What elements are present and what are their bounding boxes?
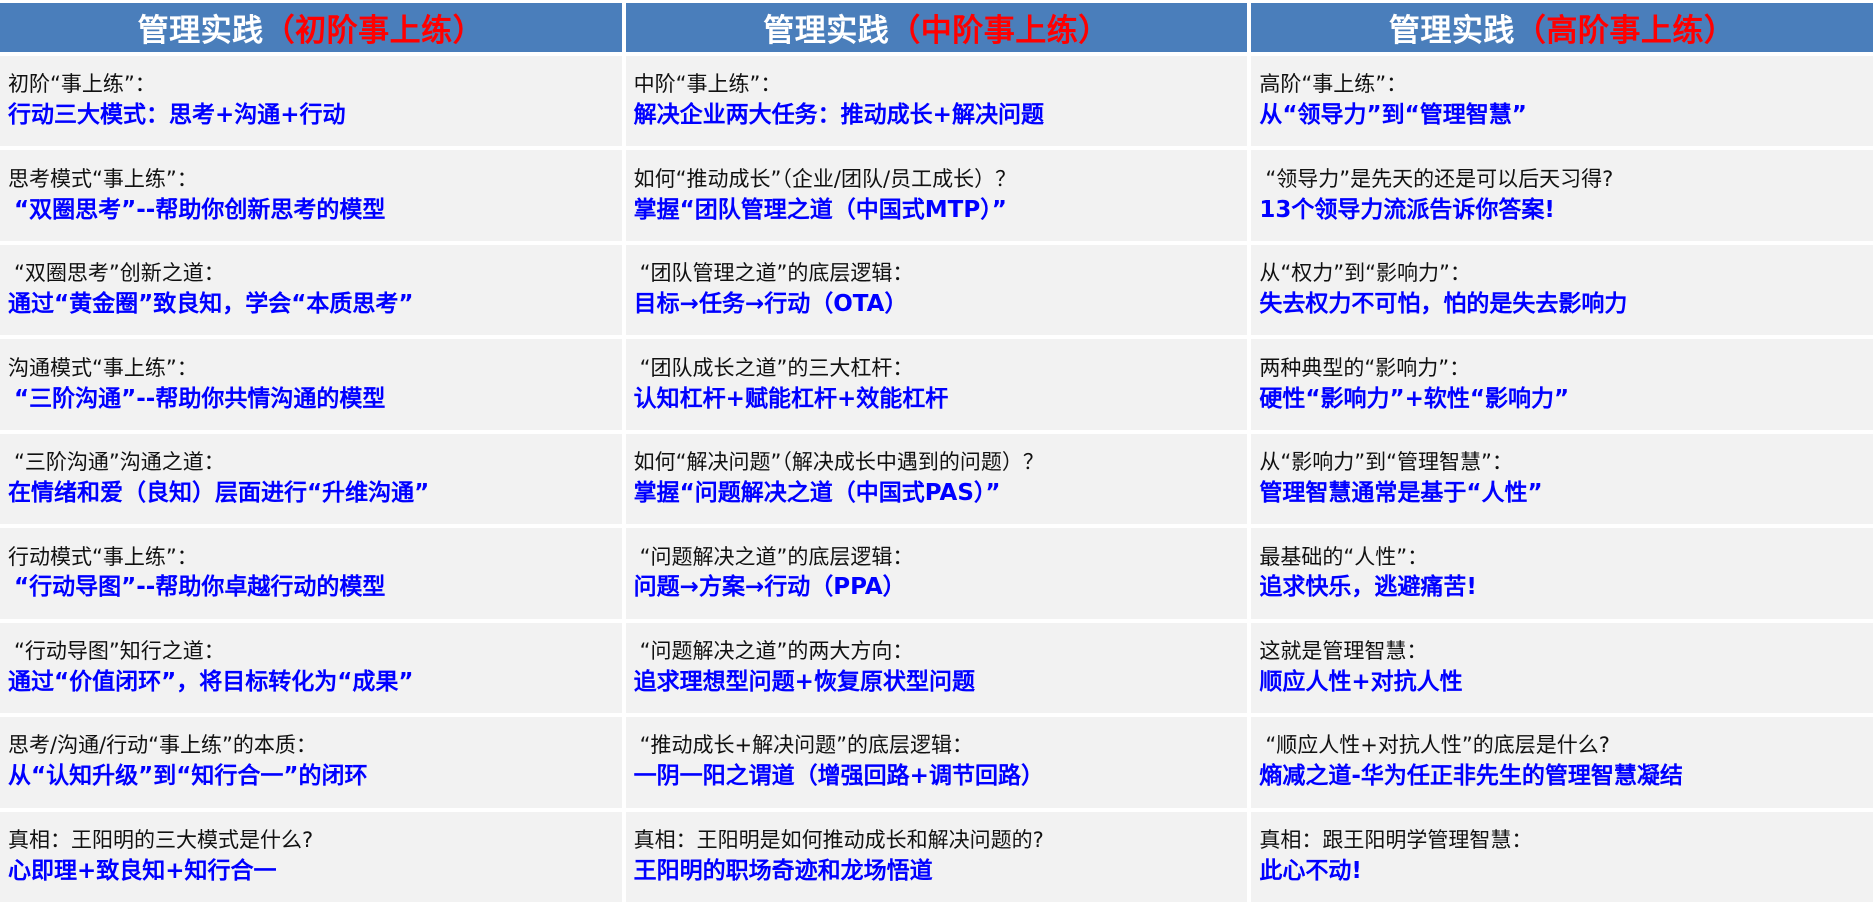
table-row: “问题解决之道”的底层逻辑： 问题→方案→行动（PPA） xyxy=(626,528,1248,618)
table-row: 从“影响力”到“管理智慧”： 管理智慧通常是基于“人性” xyxy=(1251,434,1873,524)
table-row: “行动导图”知行之道： 通过“价值闭环”，将目标转化为“成果” xyxy=(0,623,622,713)
row-answer: 顺应人性+对抗人性 xyxy=(1259,668,1869,698)
row-question: 思考/沟通/行动“事上练”的本质： xyxy=(8,732,618,759)
row-question: “三阶沟通”沟通之道： xyxy=(8,449,618,476)
column-header-title: 管理实践 xyxy=(138,5,264,50)
table-row: “双圈思考”创新之道： 通过“黄金圈”致良知，学会“本质思考” xyxy=(0,245,622,335)
row-question: 如何“解决问题”（解决成长中遇到的问题）？ xyxy=(634,449,1244,476)
row-question: 真相：跟王阳明学管理智慧： xyxy=(1259,827,1869,854)
table-row: 真相：跟王阳明学管理智慧： 此心不动! xyxy=(1251,812,1873,902)
table-row: 思考/沟通/行动“事上练”的本质： 从“认知升级”到“知行合一”的闭环 xyxy=(0,717,622,807)
table-row: 这就是管理智慧： 顺应人性+对抗人性 xyxy=(1251,623,1873,713)
row-question: “双圈思考”创新之道： xyxy=(8,260,618,287)
row-question: 沟通模式“事上练”： xyxy=(8,355,618,382)
row-answer: 熵减之道-华为任正非先生的管理智慧凝结 xyxy=(1259,762,1869,792)
row-answer: 解决企业两大任务：推动成长+解决问题 xyxy=(634,101,1244,131)
row-answer: 掌握“团队管理之道（中国式MTP）” xyxy=(634,196,1244,226)
column-header-subtitle: （初阶事上练） xyxy=(264,5,485,50)
row-question: 行动模式“事上练”： xyxy=(8,544,618,571)
row-question: 最基础的“人性”： xyxy=(1259,544,1869,571)
table-row: “推动成长+解决问题”的底层逻辑： 一阴一阳之谓道（增强回路+调节回路） xyxy=(626,717,1248,807)
table-row: “三阶沟通”沟通之道： 在情绪和爱（良知）层面进行“升维沟通” xyxy=(0,434,622,524)
table-row: 真相：王阳明是如何推动成长和解决问题的? 王阳明的职场奇迹和龙场悟道 xyxy=(626,812,1248,902)
row-question: “领导力”是先天的还是可以后天习得? xyxy=(1259,166,1869,193)
table-row: “团队管理之道”的底层逻辑： 目标→任务→行动（OTA） xyxy=(626,245,1248,335)
row-answer: 问题→方案→行动（PPA） xyxy=(634,573,1244,603)
row-answer: 管理智慧通常是基于“人性” xyxy=(1259,479,1869,509)
table-row: 如何“推动成长”（企业/团队/员工成长）？ 掌握“团队管理之道（中国式MTP）” xyxy=(626,150,1248,240)
row-question: 中阶“事上练”： xyxy=(634,71,1244,98)
row-answer: 从“认知升级”到“知行合一”的闭环 xyxy=(8,762,618,792)
table-row: “团队成长之道”的三大杠杆： 认知杠杆+赋能杠杆+效能杠杆 xyxy=(626,339,1248,429)
column-header-subtitle: （中阶事上练） xyxy=(889,5,1110,50)
row-question: 从“权力”到“影响力”： xyxy=(1259,260,1869,287)
row-answer: “行动导图”--帮助你卓越行动的模型 xyxy=(8,573,618,603)
row-answer: 通过“黄金圈”致良知，学会“本质思考” xyxy=(8,290,618,320)
row-answer: 一阴一阳之谓道（增强回路+调节回路） xyxy=(634,762,1244,792)
row-question: “问题解决之道”的两大方向： xyxy=(634,638,1244,665)
row-answer: 掌握“问题解决之道（中国式PAS）” xyxy=(634,479,1244,509)
table-row: “领导力”是先天的还是可以后天习得? 13个领导力流派告诉你答案! xyxy=(1251,150,1873,240)
row-answer: 硬性“影响力”+软性“影响力” xyxy=(1259,385,1869,415)
row-question: 两种典型的“影响力”： xyxy=(1259,355,1869,382)
row-question: 从“影响力”到“管理智慧”： xyxy=(1259,449,1869,476)
row-answer: 追求快乐，逃避痛苦! xyxy=(1259,573,1869,603)
row-question: “团队管理之道”的底层逻辑： xyxy=(634,260,1244,287)
table-row: 思考模式“事上练”： “双圈思考”--帮助你创新思考的模型 xyxy=(0,150,622,240)
row-question: 高阶“事上练”： xyxy=(1259,71,1869,98)
table-row: 高阶“事上练”： 从“领导力”到“管理智慧” xyxy=(1251,56,1873,146)
row-answer: 认知杠杆+赋能杠杆+效能杠杆 xyxy=(634,385,1244,415)
row-answer: 行动三大模式：思考+沟通+行动 xyxy=(8,101,618,131)
column-header-beginner: 管理实践 （初阶事上练） xyxy=(0,3,622,52)
table-row: 行动模式“事上练”： “行动导图”--帮助你卓越行动的模型 xyxy=(0,528,622,618)
row-answer: 王阳明的职场奇迹和龙场悟道 xyxy=(634,857,1244,887)
row-answer: “三阶沟通”--帮助你共情沟通的模型 xyxy=(8,385,618,415)
column-header-subtitle: （高阶事上练） xyxy=(1515,5,1736,50)
row-answer: 此心不动! xyxy=(1259,857,1869,887)
row-answer: 目标→任务→行动（OTA） xyxy=(634,290,1244,320)
row-answer: 通过“价值闭环”，将目标转化为“成果” xyxy=(8,668,618,698)
table-row: 中阶“事上练”： 解决企业两大任务：推动成长+解决问题 xyxy=(626,56,1248,146)
row-question: “顺应人性+对抗人性”的底层是什么? xyxy=(1259,732,1869,759)
column-intermediate: 管理实践 （中阶事上练） 中阶“事上练”： 解决企业两大任务：推动成长+解决问题… xyxy=(626,3,1248,902)
column-header-title: 管理实践 xyxy=(763,5,889,50)
row-answer: “双圈思考”--帮助你创新思考的模型 xyxy=(8,196,618,226)
row-answer: 心即理+致良知+知行合一 xyxy=(8,857,618,887)
table-row: “顺应人性+对抗人性”的底层是什么? 熵减之道-华为任正非先生的管理智慧凝结 xyxy=(1251,717,1873,807)
table-row: 如何“解决问题”（解决成长中遇到的问题）？ 掌握“问题解决之道（中国式PAS）” xyxy=(626,434,1248,524)
column-header-advanced: 管理实践 （高阶事上练） xyxy=(1251,3,1873,52)
row-question: 真相：王阳明是如何推动成长和解决问题的? xyxy=(634,827,1244,854)
table-row: 初阶“事上练”： 行动三大模式：思考+沟通+行动 xyxy=(0,56,622,146)
row-question: 真相：王阳明的三大模式是什么? xyxy=(8,827,618,854)
column-beginner: 管理实践 （初阶事上练） 初阶“事上练”： 行动三大模式：思考+沟通+行动 思考… xyxy=(0,3,622,902)
column-advanced: 管理实践 （高阶事上练） 高阶“事上练”： 从“领导力”到“管理智慧” “领导力… xyxy=(1251,3,1873,902)
row-answer: 失去权力不可怕，怕的是失去影响力 xyxy=(1259,290,1869,320)
table-row: 两种典型的“影响力”： 硬性“影响力”+软性“影响力” xyxy=(1251,339,1873,429)
row-question: 这就是管理智慧： xyxy=(1259,638,1869,665)
table-row: 从“权力”到“影响力”： 失去权力不可怕，怕的是失去影响力 xyxy=(1251,245,1873,335)
table-row: “问题解决之道”的两大方向： 追求理想型问题+恢复原状型问题 xyxy=(626,623,1248,713)
row-question: “团队成长之道”的三大杠杆： xyxy=(634,355,1244,382)
row-question: “推动成长+解决问题”的底层逻辑： xyxy=(634,732,1244,759)
table-row: 最基础的“人性”： 追求快乐，逃避痛苦! xyxy=(1251,528,1873,618)
row-answer: 从“领导力”到“管理智慧” xyxy=(1259,101,1869,131)
row-question: “行动导图”知行之道： xyxy=(8,638,618,665)
row-answer: 在情绪和爱（良知）层面进行“升维沟通” xyxy=(8,479,618,509)
row-answer: 追求理想型问题+恢复原状型问题 xyxy=(634,668,1244,698)
management-practice-table: 管理实践 （初阶事上练） 初阶“事上练”： 行动三大模式：思考+沟通+行动 思考… xyxy=(0,0,1873,908)
row-question: 思考模式“事上练”： xyxy=(8,166,618,193)
row-question: 如何“推动成长”（企业/团队/员工成长）？ xyxy=(634,166,1244,193)
column-header-title: 管理实践 xyxy=(1389,5,1515,50)
row-question: 初阶“事上练”： xyxy=(8,71,618,98)
table-row: 真相：王阳明的三大模式是什么? 心即理+致良知+知行合一 xyxy=(0,812,622,902)
table-row: 沟通模式“事上练”： “三阶沟通”--帮助你共情沟通的模型 xyxy=(0,339,622,429)
row-question: “问题解决之道”的底层逻辑： xyxy=(634,544,1244,571)
column-header-intermediate: 管理实践 （中阶事上练） xyxy=(626,3,1248,52)
row-answer: 13个领导力流派告诉你答案! xyxy=(1259,196,1869,226)
